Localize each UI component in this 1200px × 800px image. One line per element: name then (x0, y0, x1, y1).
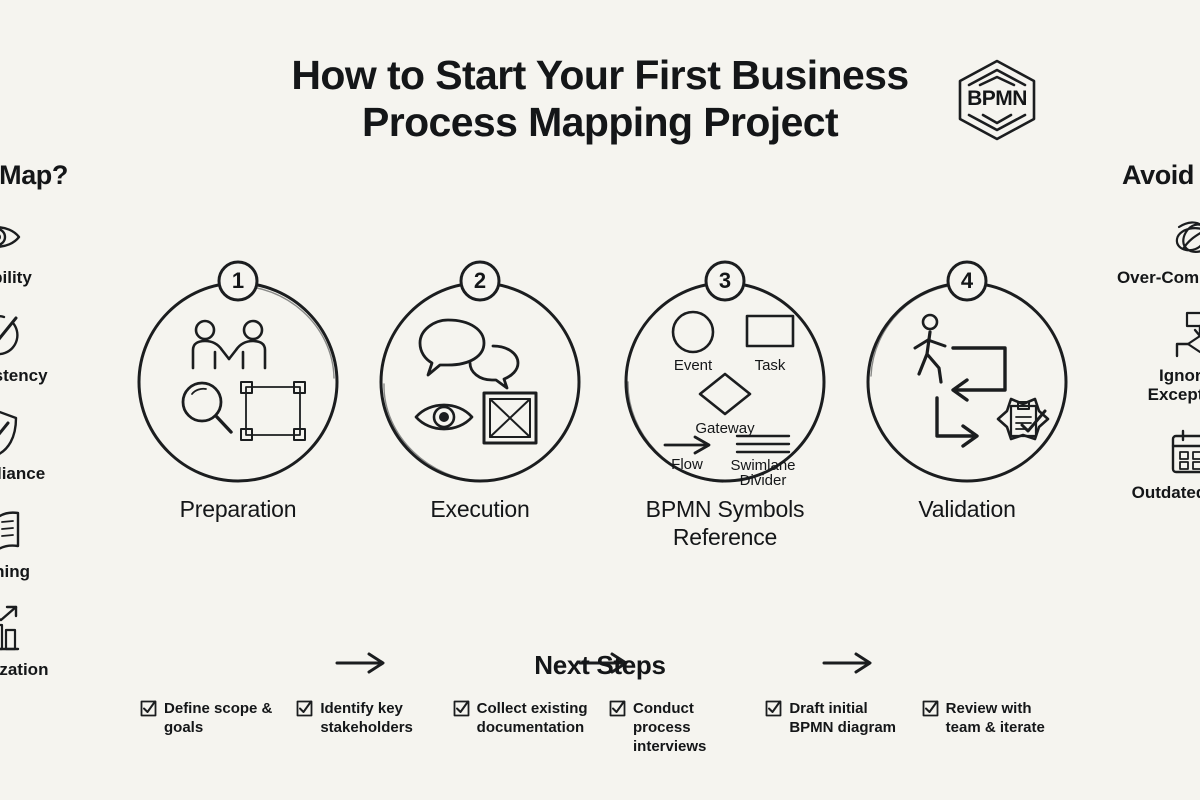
next-step-label: Identify key stakeholders (320, 699, 434, 737)
next-step-label: Review with team & iterate (946, 699, 1060, 737)
step-number-1: 1 (216, 259, 260, 303)
infographic-canvas: How to Start Your First Business Process… (0, 0, 1200, 800)
bpmn-badge-label: BPMN (953, 87, 1041, 111)
loop-back-arrow-icon (937, 348, 1005, 446)
step-number-text: 1 (232, 270, 244, 292)
next-steps-section: Next Steps Define scope & goals Identify… (0, 650, 1200, 757)
bar-chart-growth-icon (0, 603, 23, 655)
page-title: How to Start Your First Business Process… (250, 52, 950, 146)
step-2-glyphs (378, 280, 582, 484)
next-step-item[interactable]: Collect existing documentation (453, 699, 591, 737)
step-label-bpmn-symbols-reference: BPMN Symbols Reference (605, 496, 845, 551)
bpmn-badge: BPMN (953, 57, 1041, 143)
process-steps-row: 1 Preparation (0, 272, 1200, 582)
scope-selection-box-icon (241, 382, 305, 440)
step-label-validation: Validation (847, 496, 1087, 524)
next-step-label: Define scope & goals (164, 699, 278, 737)
step-execution: 2 Execution (360, 272, 600, 582)
checkbox-checked-icon[interactable] (765, 700, 782, 717)
next-step-item[interactable]: Conduct process interviews (609, 699, 747, 757)
symbol-label-event: Event (674, 357, 713, 374)
step-bpmn-symbols-reference: Event Task Gateway Flow Swimlane Divider (605, 272, 845, 582)
symbol-label-swimlane-2: Divider (740, 472, 787, 489)
step-label-preparation: Preparation (118, 496, 358, 524)
task-rectangle-icon (747, 316, 793, 346)
step-number-4: 4 (945, 259, 989, 303)
certified-clipboard-icon (998, 399, 1048, 439)
gateway-diamond-icon (700, 374, 750, 414)
next-step-item[interactable]: Review with team & iterate (922, 699, 1060, 737)
symbol-label-task: Task (755, 357, 786, 374)
step-1-glyphs (136, 280, 340, 484)
next-step-label: Draft initial BPMN diagram (789, 699, 903, 737)
speech-bubbles-icon (420, 320, 518, 388)
next-step-item[interactable]: Identify key stakeholders (296, 699, 434, 737)
next-step-label: Conduct process interviews (633, 699, 747, 757)
checkbox-checked-icon[interactable] (453, 700, 470, 717)
event-circle-icon (673, 312, 713, 352)
checkbox-checked-icon[interactable] (296, 700, 313, 717)
symbol-label-gateway: Gateway (695, 420, 755, 437)
step-number-text: 3 (719, 270, 731, 292)
swimlane-divider-icon (737, 436, 789, 452)
step-label-execution: Execution (360, 496, 600, 524)
step-number-text: 4 (961, 270, 973, 292)
step-number-text: 2 (474, 270, 486, 292)
magnifier-icon (183, 383, 231, 432)
step-preparation: 1 Preparation (118, 272, 358, 582)
next-steps-title: Next Steps (0, 650, 1200, 681)
step-4-glyphs (865, 280, 1069, 484)
step-3-glyphs: Event Task Gateway Flow Swimlane Divider (623, 280, 827, 484)
next-steps-list: Define scope & goals Identify key stakeh… (0, 699, 1200, 757)
next-step-item[interactable]: Draft initial BPMN diagram (765, 699, 903, 737)
next-step-item[interactable]: Define scope & goals (140, 699, 278, 737)
symbol-label-flow: Flow (671, 456, 703, 473)
eye-icon (0, 211, 23, 263)
step-validation: 4 Validation (847, 272, 1087, 582)
tangled-scribble-icon (1167, 211, 1200, 263)
crossed-box-icon (484, 393, 536, 443)
checkbox-checked-icon[interactable] (922, 700, 939, 717)
step-number-2: 2 (458, 259, 502, 303)
eye-icon (416, 405, 472, 429)
why-map-heading: Why Map? (0, 160, 72, 191)
avoid-heading: Avoid (1118, 160, 1200, 191)
next-step-label: Collect existing documentation (477, 699, 591, 737)
checkbox-checked-icon[interactable] (609, 700, 626, 717)
walking-person-icon (915, 315, 945, 382)
flow-arrow-icon (665, 437, 709, 453)
two-people-handshake-icon (193, 321, 265, 368)
step-number-3: 3 (703, 259, 747, 303)
checkbox-checked-icon[interactable] (140, 700, 157, 717)
